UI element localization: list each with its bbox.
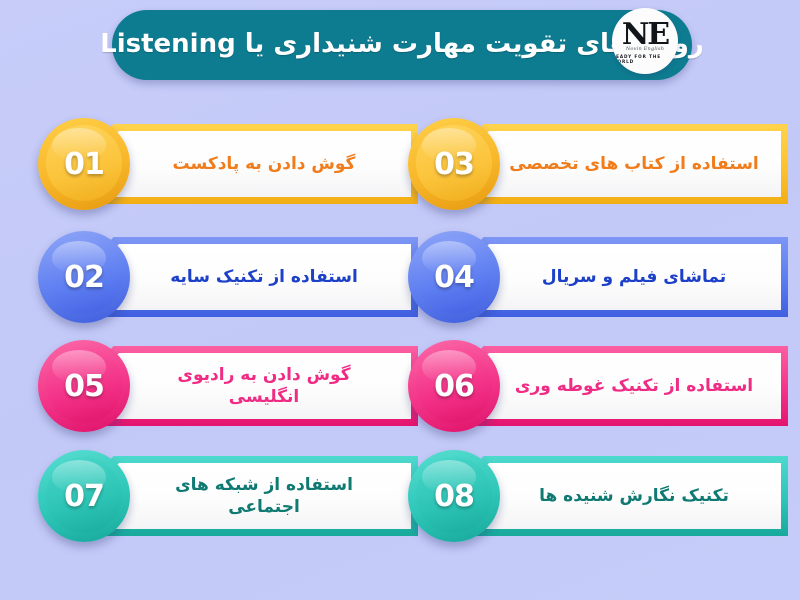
method-item-07[interactable]: استفاده از شبکه های اجتماعی07: [38, 450, 418, 542]
items-grid: گوش دادن به پادکست01استفاده از کتاب های …: [0, 118, 800, 558]
method-item-05[interactable]: گوش دادن به رادیوی انگلیسی05: [38, 340, 418, 432]
item-banner-surface: استفاده از کتاب های تخصصی: [453, 131, 781, 197]
item-banner-surface: گوش دادن به پادکست: [83, 131, 411, 197]
item-label: تماشای فیلم و سریال: [542, 266, 726, 288]
item-number: 04: [434, 260, 474, 295]
item-label: تکنیک نگارش شنیده ها: [539, 485, 729, 507]
item-number: 07: [64, 479, 104, 514]
item-number-badge[interactable]: 03: [408, 118, 500, 210]
item-banner-surface: استفاده از تکنیک غوطه وری: [453, 353, 781, 419]
item-number: 02: [64, 260, 104, 295]
method-item-06[interactable]: استفاده از تکنیک غوطه وری06: [408, 340, 788, 432]
item-number-badge[interactable]: 01: [38, 118, 130, 210]
method-item-02[interactable]: استفاده از تکنیک سایه02: [38, 231, 418, 323]
header: روش های تقویت مهارت شنیداری یا Listening: [112, 10, 692, 80]
method-item-01[interactable]: گوش دادن به پادکست01: [38, 118, 418, 210]
item-label: استفاده از تکنیک غوطه وری: [515, 375, 753, 397]
item-banner-surface: تکنیک نگارش شنیده ها: [453, 463, 781, 529]
logo-badge: NE Novin English READY FOR THE WORLD: [612, 8, 678, 74]
item-banner-surface: گوش دادن به رادیوی انگلیسی: [83, 353, 411, 419]
item-number: 03: [434, 147, 474, 182]
logo-letters: NE: [622, 22, 668, 48]
item-number: 08: [434, 479, 474, 514]
logo-script-text: Novin English: [626, 46, 664, 52]
method-item-04[interactable]: تماشای فیلم و سریال04: [408, 231, 788, 323]
method-item-03[interactable]: استفاده از کتاب های تخصصی03: [408, 118, 788, 210]
item-label: استفاده از کتاب های تخصصی: [509, 153, 759, 175]
item-banner-surface: استفاده از تکنیک سایه: [83, 244, 411, 310]
item-label: استفاده از شبکه های اجتماعی: [175, 474, 353, 519]
item-label: گوش دادن به رادیوی انگلیسی: [177, 364, 350, 409]
item-number-badge[interactable]: 07: [38, 450, 130, 542]
title-pill: روش های تقویت مهارت شنیداری یا Listening: [112, 10, 692, 80]
logo-tagline: READY FOR THE WORLD: [612, 54, 678, 64]
item-label: گوش دادن به پادکست: [173, 153, 356, 175]
item-number-badge[interactable]: 02: [38, 231, 130, 323]
item-number-badge[interactable]: 08: [408, 450, 500, 542]
item-label: استفاده از تکنیک سایه: [170, 266, 358, 288]
item-banner-surface: تماشای فیلم و سریال: [453, 244, 781, 310]
method-item-08[interactable]: تکنیک نگارش شنیده ها08: [408, 450, 788, 542]
item-number: 06: [434, 369, 474, 404]
infographic-canvas: روش های تقویت مهارت شنیداری یا Listening…: [0, 0, 800, 600]
item-number-badge[interactable]: 05: [38, 340, 130, 432]
item-number-badge[interactable]: 04: [408, 231, 500, 323]
item-banner-surface: استفاده از شبکه های اجتماعی: [83, 463, 411, 529]
item-number: 01: [64, 147, 104, 182]
item-number: 05: [64, 369, 104, 404]
item-number-badge[interactable]: 06: [408, 340, 500, 432]
